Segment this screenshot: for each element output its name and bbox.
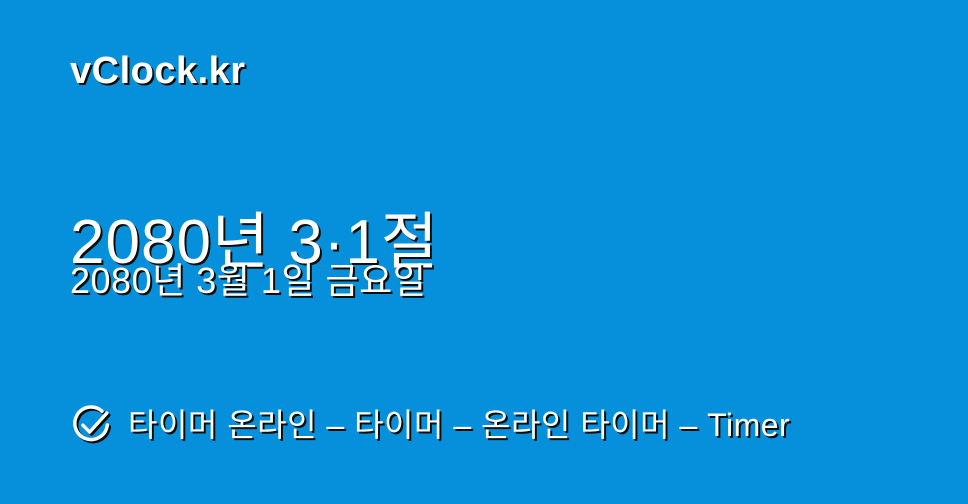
timer-online-link[interactable]: 타이머 온라인 – 타이머 – 온라인 타이머 – Timer (68, 402, 790, 448)
site-logo[interactable]: vClock.kr (70, 52, 246, 90)
circle-check-icon (68, 402, 114, 448)
timer-online-link-label: 타이머 온라인 – 타이머 – 온라인 타이머 – Timer (128, 409, 790, 441)
circle-check-icon-wrap (68, 402, 114, 448)
event-date-subtitle: 2080년 3월 1일 금요일 (70, 259, 426, 302)
page-root: vClock.kr 2080년 3·1절 2080년 3월 1일 금요일 타이머… (0, 0, 968, 504)
